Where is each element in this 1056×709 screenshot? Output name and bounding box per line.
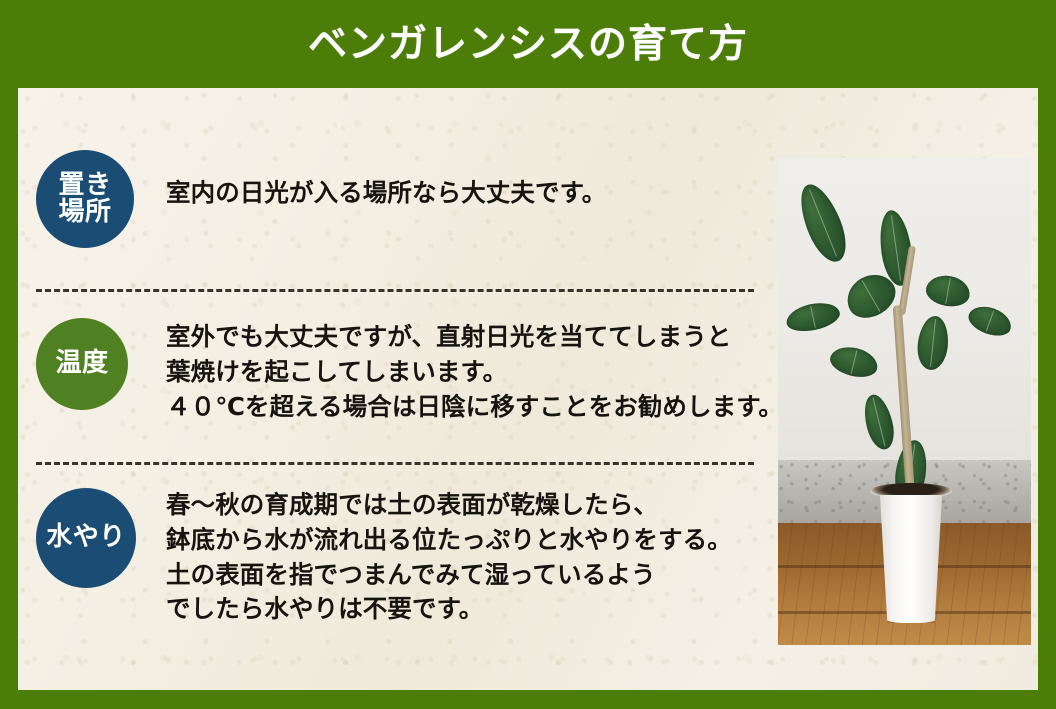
content-card: 置き 場所 室内の日光が入る場所なら大丈夫です。 温度 室外でも大丈夫ですが、直…: [18, 88, 1038, 690]
section-temperature: 温度 室外でも大丈夫ですが、直射日光を当ててしまうと 葉焼けを起こしてしまいます…: [36, 318, 783, 424]
section-watering: 水やり 春〜秋の育成期では土の表面が乾燥したら、 鉢底から水が流れ出る位たっぷり…: [36, 488, 732, 627]
header-bar: ベンガレンシスの育て方: [0, 0, 1056, 88]
watering-text: 春〜秋の育成期では土の表面が乾燥したら、 鉢底から水が流れ出る位たっぷりと水やり…: [166, 488, 732, 627]
temperature-line-2: 葉焼けを起こしてしまいます。: [166, 355, 783, 390]
badge-watering: 水やり: [36, 488, 136, 588]
divider-1: [36, 289, 754, 292]
badge-placement-line-2: 場所: [58, 199, 111, 226]
page-title: ベンガレンシスの育て方: [308, 25, 748, 64]
badge-placement: 置き 場所: [36, 150, 134, 248]
placement-text: 室内の日光が入る場所なら大丈夫です。: [166, 150, 606, 211]
section-placement: 置き 場所 室内の日光が入る場所なら大丈夫です。: [36, 150, 606, 248]
divider-2: [36, 462, 754, 465]
temperature-text: 室外でも大丈夫ですが、直射日光を当ててしまうと 葉焼けを起こしてしまいます。 ４…: [166, 318, 783, 424]
watering-line-2: 鉢底から水が流れ出る位たっぷりと水やりをする。: [166, 523, 732, 558]
badge-temperature: 温度: [36, 318, 128, 410]
watering-line-4: でしたら水やりは不要です。: [166, 592, 732, 627]
temperature-line-3: ４０℃を超える場合は日陰に移すことをお勧めします。: [166, 390, 783, 425]
badge-placement-line-1: 置き: [58, 172, 111, 199]
temperature-line-1: 室外でも大丈夫ですが、直射日光を当ててしまうと: [166, 320, 783, 355]
watering-line-1: 春〜秋の育成期では土の表面が乾燥したら、: [166, 488, 732, 523]
plant-photo: [778, 158, 1031, 645]
placement-line-1: 室内の日光が入る場所なら大丈夫です。: [166, 176, 606, 211]
page-root: ベンガレンシスの育て方 置き 場所 室内の日光が入る場所なら大丈夫です。 温度 …: [0, 0, 1056, 709]
badge-temperature-line-1: 温度: [55, 350, 108, 377]
badge-watering-line-1: 水やり: [46, 524, 126, 551]
watering-line-3: 土の表面を指でつまんでみて湿っているよう: [166, 558, 732, 593]
